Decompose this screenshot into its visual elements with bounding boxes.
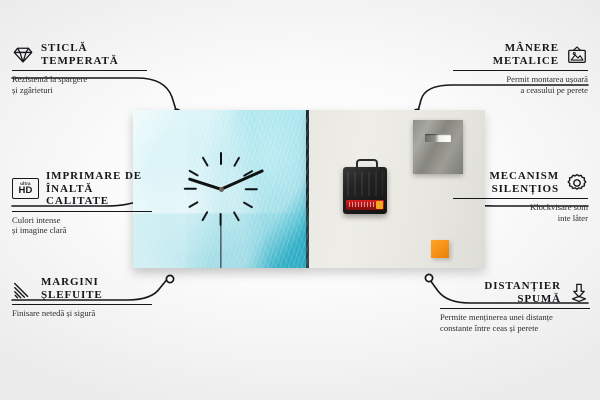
callout-title: STICLĂ TEMPERATĂ xyxy=(41,42,119,67)
diamond-icon xyxy=(12,44,34,66)
arrow-down-pad-icon xyxy=(568,282,590,304)
callout-rule xyxy=(12,304,152,305)
clock-front-panel xyxy=(133,110,309,268)
diagonal-lines-icon xyxy=(12,278,34,300)
callout-mecanism-silentios: MECANISM SILENȚIOS Klockvisare som inte … xyxy=(453,170,588,223)
picture-hanger-icon xyxy=(566,44,588,66)
battery-plus-terminal xyxy=(376,201,383,209)
callout-manere-metalice: MÂNERE METALICE Permit montarea ușoară a… xyxy=(453,42,588,95)
callout-title: MECANISM SILENȚIOS xyxy=(489,170,559,195)
callout-rule xyxy=(12,70,147,71)
clock-center-cap xyxy=(219,187,224,192)
hanger-slot xyxy=(425,134,451,142)
callout-subtitle: Rezistentă la spargere și zgârieturi xyxy=(12,74,147,95)
hanger-loop xyxy=(356,159,378,171)
callout-title: MARGINI ȘLEFUITE xyxy=(41,276,103,301)
infographic-stage: STICLĂ TEMPERATĂ Rezistentă la spargere … xyxy=(0,0,600,400)
second-hand xyxy=(220,223,221,268)
ultra-hd-icon: ultra HD xyxy=(12,178,39,199)
callout-distantier-spuma: DISTANȚIER SPUMĂ Permite menținerea unei… xyxy=(440,280,590,333)
callout-title: MÂNERE METALICE xyxy=(493,42,559,67)
battery-label xyxy=(349,202,375,207)
metal-hanger-plate xyxy=(413,120,463,174)
battery xyxy=(346,200,384,210)
product-image xyxy=(133,110,485,268)
callout-subtitle: Permit montarea ușoară a ceasului pe per… xyxy=(453,74,588,95)
movement-label xyxy=(347,172,383,196)
callout-rule xyxy=(453,70,588,71)
clock-dial xyxy=(133,110,309,268)
callout-imprimare-calitate: ultra HD IMPRIMARE DE ÎNALTĂ CALITATE Cu… xyxy=(12,170,152,236)
foam-spacer xyxy=(431,240,449,258)
callout-subtitle: Finisare netedă și sigură xyxy=(12,308,152,318)
callout-sticla-temperata: STICLĂ TEMPERATĂ Rezistentă la spargere … xyxy=(12,42,147,95)
callout-rule xyxy=(12,211,152,212)
connector-dot-distantier xyxy=(425,274,432,281)
callout-subtitle: Permite menținerea unei distanțe constan… xyxy=(440,312,590,333)
gear-icon xyxy=(566,172,588,194)
callout-rule xyxy=(440,308,590,309)
callout-subtitle: Klockvisare som inte låter xyxy=(453,202,588,223)
callout-title: DISTANȚIER SPUMĂ xyxy=(484,280,561,305)
connector-dot-margini xyxy=(166,275,173,282)
clock-movement xyxy=(343,167,387,214)
callout-subtitle: Culori intense și imagine clară xyxy=(12,215,152,236)
callout-margini-slefuite: MARGINI ȘLEFUITE Finisare netedă și sigu… xyxy=(12,276,152,319)
callout-rule xyxy=(453,198,588,199)
ultra-hd-icon-large-text: HD xyxy=(18,186,32,196)
